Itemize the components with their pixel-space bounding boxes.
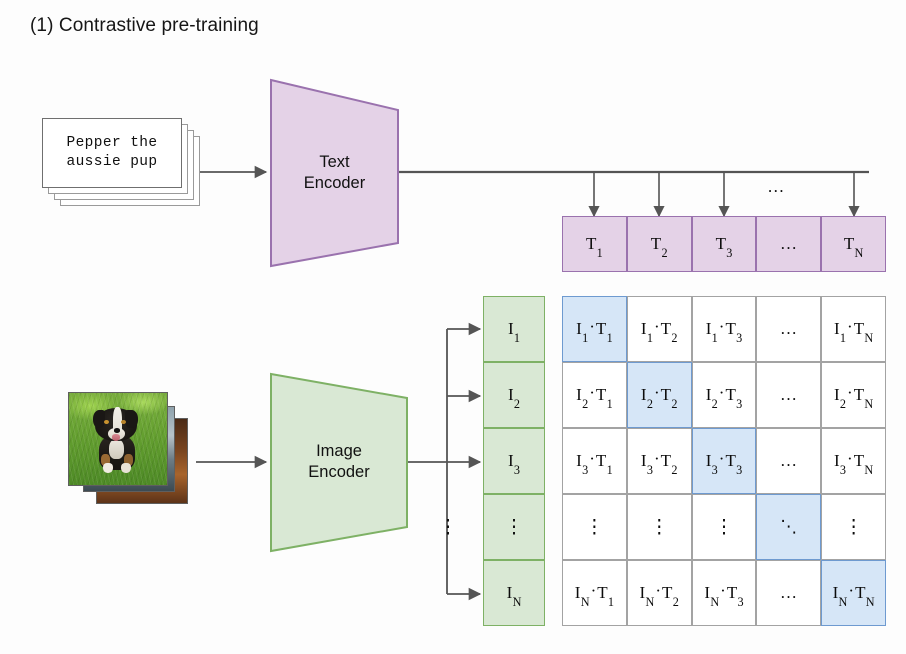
text-token-1[interactable]: T1 bbox=[562, 216, 627, 272]
top-row-ellipsis: … bbox=[757, 178, 795, 196]
matrix-cell-r2-c5[interactable]: I2·TN bbox=[821, 362, 886, 428]
matrix-cell-r2-c2[interactable]: I2·T2 bbox=[627, 362, 692, 428]
wire-image-encoder-to-tokens bbox=[407, 329, 480, 594]
puppy-eye-right bbox=[121, 420, 126, 424]
matrix-cell-r3-c4[interactable]: … bbox=[756, 428, 821, 494]
matrix-cell-r4-c1[interactable]: ⋮ bbox=[562, 494, 627, 560]
text-token-2[interactable]: T2 bbox=[627, 216, 692, 272]
puppy-nose bbox=[114, 428, 121, 433]
text-encoder-label-2: Encoder bbox=[271, 173, 398, 194]
image-encoder-label-2: Encoder bbox=[271, 462, 407, 483]
matrix-cell-r1-c5[interactable]: I1·TN bbox=[821, 296, 886, 362]
figure-title: (1) Contrastive pre-training bbox=[30, 14, 259, 38]
image-token-label: I2 bbox=[508, 385, 520, 405]
matrix-cell-r1-c3[interactable]: I1·T3 bbox=[692, 296, 757, 362]
image-token-label: I1 bbox=[508, 319, 520, 339]
matrix-cell-label: I3·T1 bbox=[576, 451, 613, 471]
image-token-1[interactable]: I1 bbox=[483, 296, 545, 362]
matrix-cell-label: IN·TN bbox=[833, 583, 875, 603]
matrix-cell-r5-c1[interactable]: IN·T1 bbox=[562, 560, 627, 626]
image-token-3[interactable]: I3 bbox=[483, 428, 545, 494]
puppy-paw-left bbox=[103, 463, 113, 473]
matrix-cell-label: I2·T1 bbox=[576, 385, 613, 405]
text-encoder-label-1: Text bbox=[271, 152, 398, 173]
matrix-cell-v-ellipsis: ⋮ bbox=[844, 518, 863, 537]
text-token-ellipsis: … bbox=[780, 234, 798, 254]
matrix-cell-r1-c2[interactable]: I1·T2 bbox=[627, 296, 692, 362]
text-input-stack[interactable]: Pepper the aussie pup bbox=[42, 118, 217, 223]
matrix-cell-v-ellipsis: ⋮ bbox=[585, 518, 604, 537]
matrix-cell-r1-c1[interactable]: I1·T1 bbox=[562, 296, 627, 362]
puppy-ear-right bbox=[125, 410, 138, 427]
matrix-cell-label: I1·T1 bbox=[576, 319, 613, 339]
text-token-label: T1 bbox=[586, 234, 603, 254]
image-token-4[interactable]: ⋮ bbox=[483, 494, 545, 560]
matrix-cell-label: I2·T3 bbox=[706, 385, 743, 405]
matrix-cell-r2-c3[interactable]: I2·T3 bbox=[692, 362, 757, 428]
matrix-cell-r4-c5[interactable]: ⋮ bbox=[821, 494, 886, 560]
text-caption-line-2: aussie pup bbox=[66, 153, 157, 172]
matrix-cell-label: I3·T3 bbox=[706, 451, 743, 471]
matrix-cell-r4-c2[interactable]: ⋮ bbox=[627, 494, 692, 560]
puppy-chest bbox=[109, 439, 124, 459]
matrix-cell-label: I1·TN bbox=[834, 319, 873, 339]
matrix-cell-label: I1·T2 bbox=[641, 319, 678, 339]
matrix-cell-r5-c3[interactable]: IN·T3 bbox=[692, 560, 757, 626]
matrix-cell-label: I3·T2 bbox=[641, 451, 678, 471]
text-token-4[interactable]: … bbox=[756, 216, 821, 272]
matrix-cell-label: I2·T2 bbox=[641, 385, 678, 405]
image-token-ellipsis: ⋮ bbox=[505, 518, 524, 537]
matrix-cell-h-ellipsis: … bbox=[780, 385, 798, 405]
puppy-paw-right bbox=[121, 463, 131, 473]
figure-canvas: (1) Contrastive pre-training bbox=[0, 0, 906, 654]
matrix-cell-r5-c4[interactable]: … bbox=[756, 560, 821, 626]
matrix-cell-h-ellipsis: … bbox=[780, 319, 798, 339]
matrix-cell-label: I1·T3 bbox=[706, 319, 743, 339]
image-encoder-label-1: Image bbox=[271, 441, 407, 462]
matrix-cell-label: I3·TN bbox=[834, 451, 873, 471]
matrix-cell-r3-c2[interactable]: I3·T2 bbox=[627, 428, 692, 494]
text-caption-line-1: Pepper the bbox=[66, 134, 157, 153]
matrix-cell-h-ellipsis: … bbox=[780, 451, 798, 471]
text-token-label: TN bbox=[844, 234, 864, 254]
matrix-cell-d-ellipsis: ⋱ bbox=[780, 519, 797, 536]
matrix-cell-r5-c5[interactable]: IN·TN bbox=[821, 560, 886, 626]
wire-text-encoder-to-tokens bbox=[398, 172, 869, 216]
photo-front-puppy[interactable] bbox=[68, 392, 168, 486]
matrix-cell-r3-c1[interactable]: I3·T1 bbox=[562, 428, 627, 494]
image-token-5[interactable]: IN bbox=[483, 560, 545, 626]
puppy-tongue bbox=[112, 434, 120, 440]
matrix-cell-r3-c5[interactable]: I3·TN bbox=[821, 428, 886, 494]
matrix-cell-r4-c3[interactable]: ⋮ bbox=[692, 494, 757, 560]
matrix-cell-label: I2·TN bbox=[834, 385, 873, 405]
text-token-label: T2 bbox=[651, 234, 668, 254]
puppy-photo-art bbox=[69, 393, 167, 485]
image-bus-ellipsis: ⋮ bbox=[440, 516, 456, 538]
matrix-cell-v-ellipsis: ⋮ bbox=[714, 518, 733, 537]
image-token-label: IN bbox=[507, 583, 522, 603]
text-token-label: T3 bbox=[716, 234, 733, 254]
matrix-cell-r2-c4[interactable]: … bbox=[756, 362, 821, 428]
matrix-cell-r3-c3[interactable]: I3·T3 bbox=[692, 428, 757, 494]
puppy-ear-left bbox=[93, 410, 106, 427]
matrix-cell-r5-c2[interactable]: IN·T2 bbox=[627, 560, 692, 626]
image-token-label: I3 bbox=[508, 451, 520, 471]
text-card-front[interactable]: Pepper the aussie pup bbox=[42, 118, 182, 188]
text-token-5[interactable]: TN bbox=[821, 216, 886, 272]
matrix-cell-label: IN·T2 bbox=[640, 583, 679, 603]
matrix-cell-r1-c4[interactable]: … bbox=[756, 296, 821, 362]
text-token-3[interactable]: T3 bbox=[692, 216, 757, 272]
matrix-cell-r2-c1[interactable]: I2·T1 bbox=[562, 362, 627, 428]
matrix-cell-label: IN·T1 bbox=[575, 583, 614, 603]
matrix-cell-h-ellipsis: … bbox=[780, 583, 798, 603]
matrix-cell-label: IN·T3 bbox=[704, 583, 743, 603]
image-token-2[interactable]: I2 bbox=[483, 362, 545, 428]
image-input-stack[interactable] bbox=[68, 392, 196, 512]
puppy-eye-left bbox=[104, 420, 109, 424]
matrix-cell-r4-c4[interactable]: ⋱ bbox=[756, 494, 821, 560]
matrix-cell-v-ellipsis: ⋮ bbox=[650, 518, 669, 537]
